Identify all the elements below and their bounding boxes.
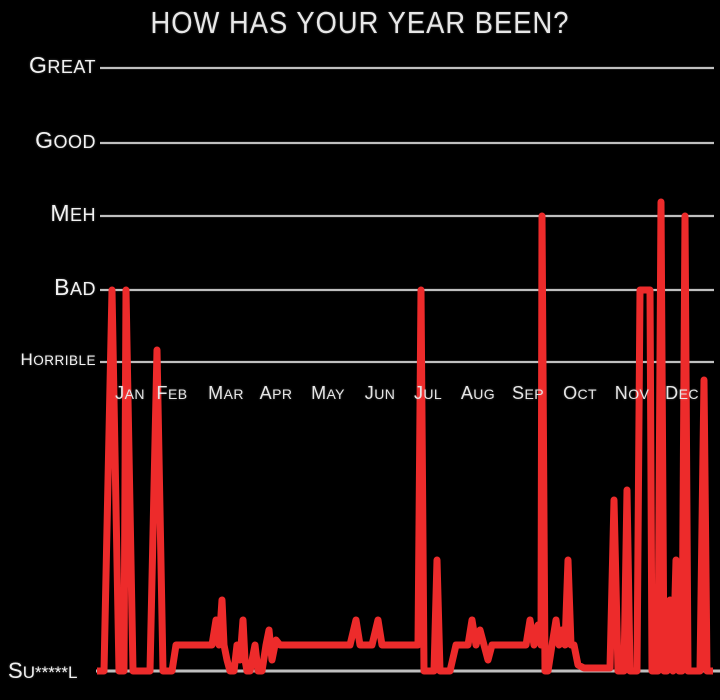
y-axis-label-good: GOOD	[0, 129, 96, 152]
x-label-head: J	[365, 383, 374, 403]
y-label-rest: EH	[70, 205, 96, 225]
mood-line-series	[97, 202, 713, 671]
x-label-rest: UG	[473, 386, 495, 402]
x-axis-label-oct: OCT	[563, 384, 597, 403]
y-axis-label-meh: MEH	[0, 202, 96, 225]
x-label-head: S	[512, 383, 524, 403]
x-axis-label-dec: DEC	[665, 384, 699, 403]
x-label-rest: EP	[524, 386, 543, 402]
x-label-head: M	[208, 383, 223, 403]
x-axis-label-mar: MAR	[208, 384, 244, 403]
x-label-head: A	[260, 383, 272, 403]
x-label-rest: PR	[272, 386, 292, 402]
x-label-rest: AR	[224, 386, 244, 402]
x-label-rest: EC	[679, 386, 699, 402]
y-axis-label-bad: BAD	[0, 276, 96, 299]
y-axis-label-horrible: HORRIBLE	[0, 351, 96, 369]
x-label-rest: OV	[628, 386, 649, 402]
y-label-rest: ORRIBLE	[33, 353, 96, 368]
x-label-rest: AY	[326, 386, 344, 402]
x-axis-label-may: MAY	[311, 384, 345, 403]
chart-plot-area	[0, 0, 720, 700]
x-axis-label-apr: APR	[260, 384, 293, 403]
baseline-level-label: SU*****L	[8, 660, 78, 682]
baseline-label-head: S	[8, 658, 23, 683]
x-label-head: D	[665, 383, 678, 403]
x-axis-label-jul: JUL	[414, 384, 442, 403]
x-axis-label-nov: NOV	[615, 384, 649, 403]
x-label-head: J	[414, 383, 423, 403]
x-label-head: N	[615, 383, 628, 403]
x-axis-label-feb: FEB	[157, 384, 188, 403]
x-label-head: O	[563, 383, 577, 403]
baseline-label-rest: U*****L	[23, 663, 78, 682]
gridlines	[100, 68, 714, 362]
x-label-head: M	[311, 383, 326, 403]
x-label-rest: EB	[168, 386, 187, 402]
x-label-rest: UN	[374, 386, 395, 402]
y-label-head: G	[29, 52, 47, 78]
x-label-head: A	[461, 383, 473, 403]
x-label-head: F	[157, 383, 168, 403]
x-label-rest: AN	[125, 386, 145, 402]
y-label-head: H	[20, 350, 33, 369]
y-label-rest: AD	[70, 279, 96, 299]
x-label-rest: UL	[423, 386, 442, 402]
y-label-head: G	[35, 127, 53, 153]
mood-chart: HOW HAS YOUR YEAR BEEN? GREATGOODMEHBADH…	[0, 0, 720, 700]
x-axis-label-aug: AUG	[461, 384, 495, 403]
x-label-head: J	[115, 383, 124, 403]
x-label-rest: CT	[577, 386, 596, 402]
y-label-rest: REAT	[47, 57, 96, 77]
x-axis-label-jun: JUN	[365, 384, 395, 403]
x-axis-label-sep: SEP	[512, 384, 544, 403]
y-label-head: M	[50, 200, 70, 226]
x-axis-label-jan: JAN	[115, 384, 145, 403]
y-label-head: B	[54, 274, 70, 300]
y-axis-label-great: GREAT	[0, 54, 96, 77]
y-label-rest: OOD	[53, 132, 96, 152]
